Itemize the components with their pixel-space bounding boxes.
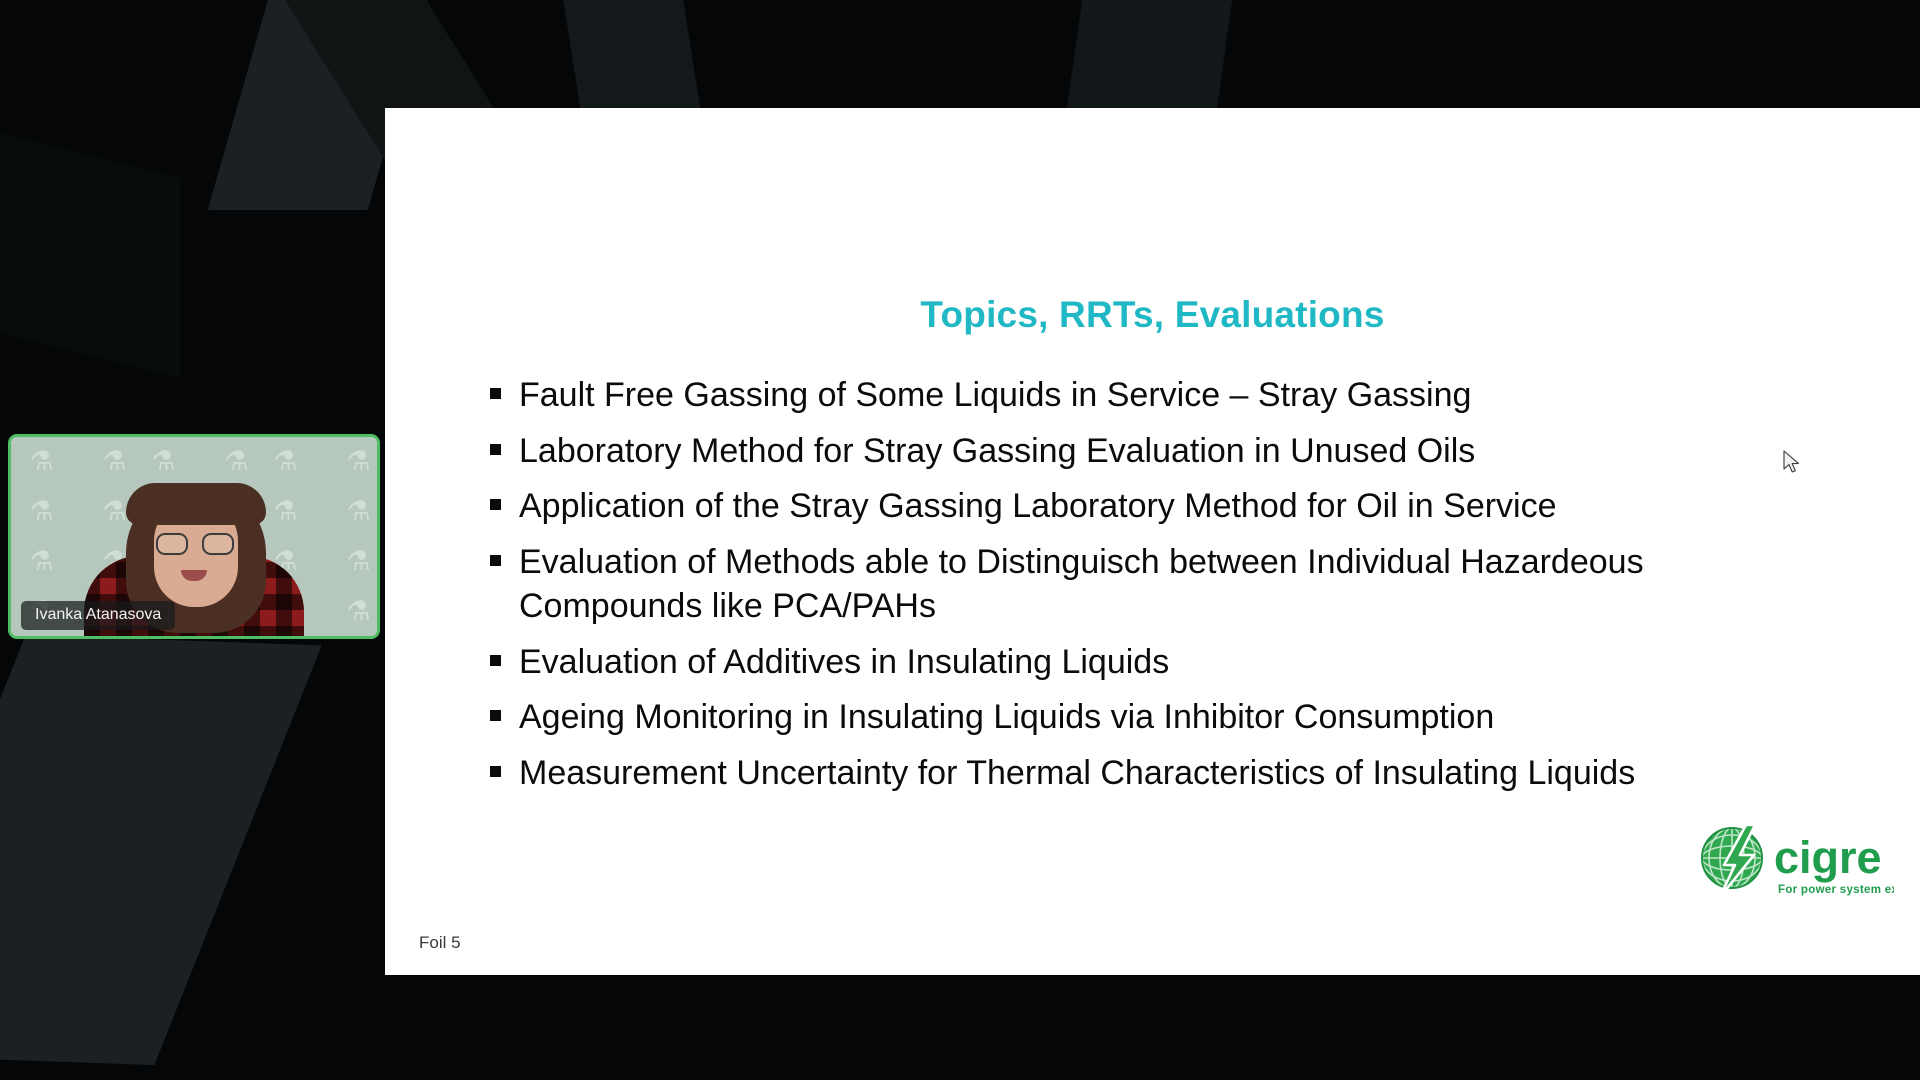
square-bullet-icon xyxy=(490,766,501,777)
slide-number-label: Foil 5 xyxy=(419,933,461,953)
slide-bullet-list: Fault Free Gassing of Some Liquids in Se… xyxy=(490,373,1780,806)
square-bullet-icon xyxy=(490,655,501,666)
list-item: Ageing Monitoring in Insulating Liquids … xyxy=(490,695,1780,740)
flask-icon: ⚗ xyxy=(328,586,380,636)
meeting-stage: Topics, RRTs, Evaluations Fault Free Gas… xyxy=(0,0,1920,1080)
cigre-wordmark: cigre xyxy=(1774,832,1882,883)
square-bullet-icon xyxy=(490,499,501,510)
square-bullet-icon xyxy=(490,710,501,721)
shared-slide[interactable]: Topics, RRTs, Evaluations Fault Free Gas… xyxy=(385,108,1920,975)
flask-icon: ⚗ xyxy=(328,487,380,537)
flask-icon: ⚗ xyxy=(84,437,145,487)
flask-icon: ⚗ xyxy=(206,437,267,487)
flask-icon: ⚗ xyxy=(11,487,72,537)
list-item-label: Ageing Monitoring in Insulating Liquids … xyxy=(519,695,1780,740)
square-bullet-icon xyxy=(490,388,501,399)
list-item-label: Fault Free Gassing of Some Liquids in Se… xyxy=(519,373,1780,418)
list-item: Laboratory Method for Stray Gassing Eval… xyxy=(490,429,1780,474)
list-item-label: Laboratory Method for Stray Gassing Eval… xyxy=(519,429,1780,474)
list-item: Evaluation of Methods able to Distinguis… xyxy=(490,540,1780,629)
square-bullet-icon xyxy=(490,444,501,455)
list-item-label: Application of the Stray Gassing Laborat… xyxy=(519,484,1780,529)
slide-title: Topics, RRTs, Evaluations xyxy=(385,294,1920,336)
flask-icon: ⚗ xyxy=(328,537,380,587)
flask-icon: ⚗ xyxy=(11,437,72,487)
cigre-tagline: For power system expertise xyxy=(1778,884,1894,896)
backdrop-shape xyxy=(0,123,180,378)
list-item-label: Evaluation of Additives in Insulating Li… xyxy=(519,640,1780,685)
flask-icon: ⚗ xyxy=(328,437,380,487)
list-item: Application of the Stray Gassing Laborat… xyxy=(490,484,1780,529)
list-item-label: Evaluation of Methods able to Distinguis… xyxy=(519,540,1780,629)
glasses-icon xyxy=(156,533,234,555)
list-item: Fault Free Gassing of Some Liquids in Se… xyxy=(490,373,1780,418)
cigre-logo: cigre For power system expertise xyxy=(1694,821,1894,909)
flask-icon: ⚗ xyxy=(11,537,72,587)
list-item-label: Measurement Uncertainty for Thermal Char… xyxy=(519,751,1780,796)
participant-video-tile[interactable]: ⚗ ⚗ ⚗ ⚗ ⚗ ⚗ ⚗ ⚗ ⚗ ⚗ ⚗ ⚗ ⚗ ⚗ ⚗ ⚗ ⚗ ⚗ ⚗ ⚗ … xyxy=(8,434,380,639)
participant-name-label: Ivanka Atanasova xyxy=(21,601,175,630)
list-item: Evaluation of Additives in Insulating Li… xyxy=(490,640,1780,685)
hair-fringe xyxy=(126,483,266,525)
backdrop-shape xyxy=(0,635,322,1065)
list-item: Measurement Uncertainty for Thermal Char… xyxy=(490,751,1780,796)
square-bullet-icon xyxy=(490,555,501,566)
